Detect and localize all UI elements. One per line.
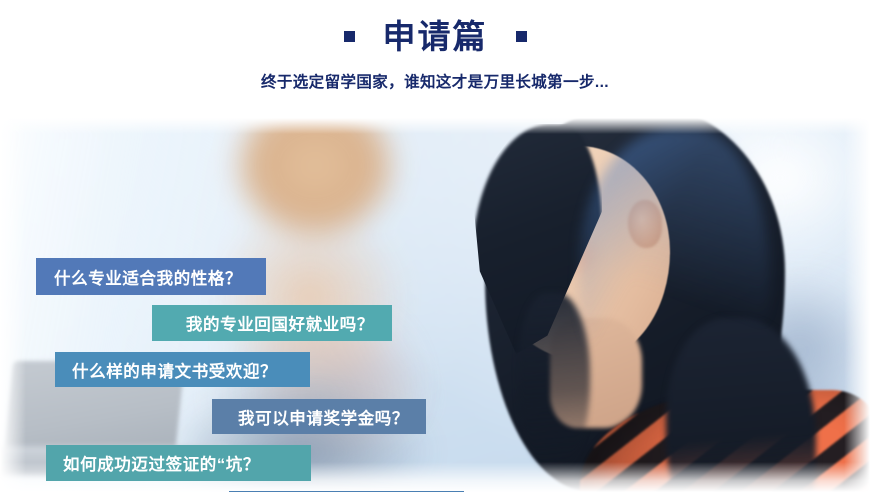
question-banner[interactable]: 什么专业适合我的性格？ <box>36 258 266 295</box>
header-section: 申请篇 终于选定留学国家，谁知这才是万里长城第一步... <box>0 0 870 118</box>
title-square-left-icon <box>344 31 355 42</box>
photo-subject-woman <box>430 118 870 492</box>
photo-fade-right <box>844 118 870 492</box>
question-banner[interactable]: 我可以申请奖学金吗？ <box>212 399 426 434</box>
question-banner-label: 什么专业适合我的性格？ <box>54 265 242 289</box>
photo-fade-left <box>0 118 26 492</box>
title-square-right-icon <box>516 31 527 42</box>
question-banner-label: 我的专业回国好就业吗？ <box>186 311 374 335</box>
subject-hair-highlight <box>580 128 770 428</box>
question-banner-label: 如何成功迈过签证的“坑？ <box>63 451 260 475</box>
photo-fade-top <box>0 118 870 134</box>
question-banner[interactable]: 如何成功迈过签证的“坑？ <box>46 445 311 481</box>
promo-banner-page: 申请篇 终于选定留学国家，谁知这才是万里长城第一步... <box>0 0 870 492</box>
question-banner[interactable]: 什么样的申请文书受欢迎？ <box>55 352 310 387</box>
question-banner-label: 我可以申请奖学金吗？ <box>238 405 409 429</box>
hero-section: 什么专业适合我的性格？我的专业回国好就业吗？什么样的申请文书受欢迎？我可以申请奖… <box>0 118 870 492</box>
background-photo <box>0 118 870 492</box>
question-banner-label: 什么样的申请文书受欢迎？ <box>72 358 277 382</box>
page-title: 申请篇 <box>383 20 488 53</box>
page-title-row: 申请篇 <box>0 20 870 53</box>
page-subtitle: 终于选定留学国家，谁知这才是万里长城第一步... <box>0 70 870 92</box>
subject-hair-strand <box>518 293 590 473</box>
question-banner[interactable]: 我的专业回国好就业吗？ <box>152 305 392 341</box>
